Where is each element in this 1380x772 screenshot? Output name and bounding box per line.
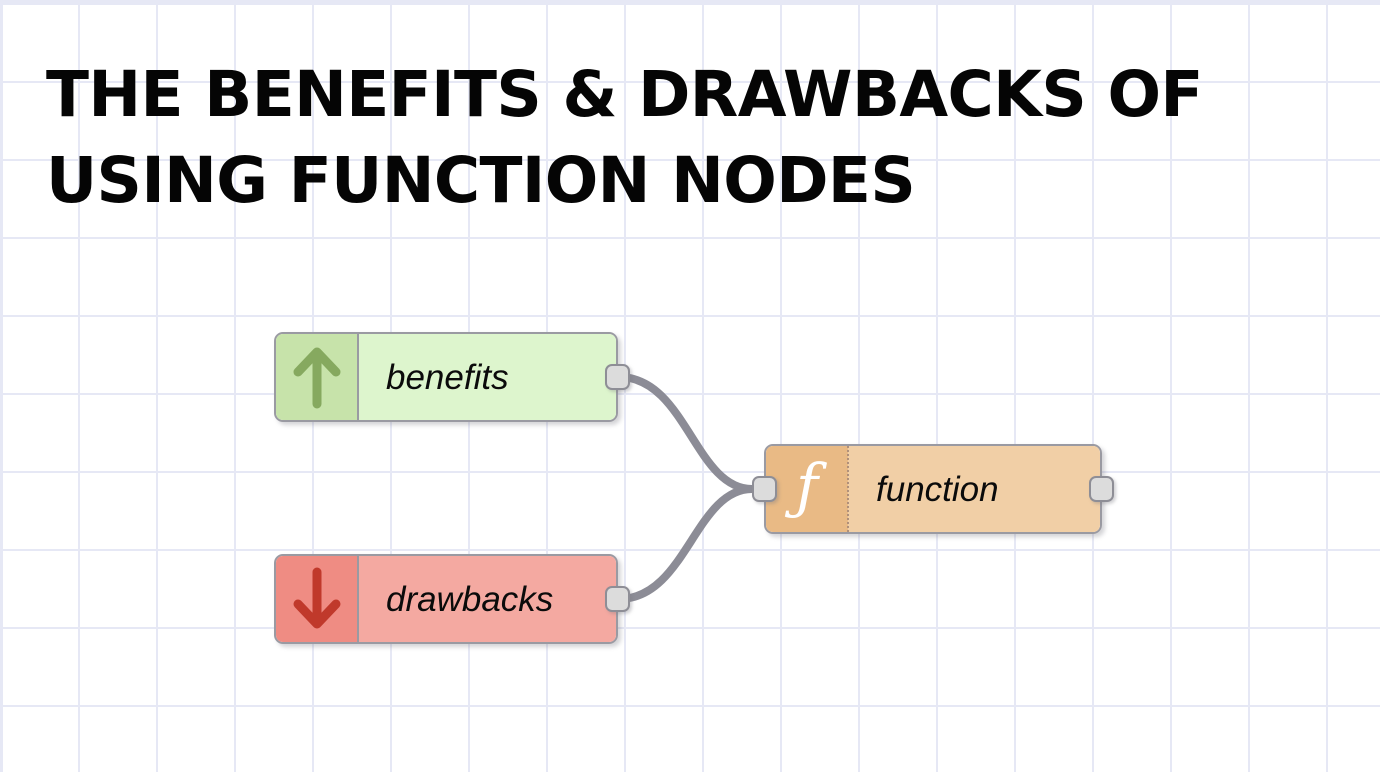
node-benefits-icon-panel — [276, 334, 358, 420]
node-drawbacks-icon-panel — [276, 556, 358, 642]
function-f-icon: ƒ — [796, 457, 818, 517]
node-function-output-port[interactable] — [1089, 476, 1114, 502]
node-drawbacks[interactable]: drawbacks — [274, 554, 618, 644]
node-function-input-port[interactable] — [752, 476, 777, 502]
wire-layer — [0, 0, 1380, 772]
node-function-body: function — [848, 446, 1100, 532]
node-drawbacks-divider — [357, 556, 359, 642]
node-function-label: function — [876, 472, 999, 507]
node-benefits-divider — [357, 334, 359, 420]
node-function-icon-panel: ƒ — [766, 446, 848, 532]
wire-benefits-to-function[interactable] — [619, 377, 752, 489]
node-drawbacks-body: drawbacks — [358, 556, 616, 642]
node-benefits-output-port[interactable] — [605, 364, 630, 390]
node-benefits-body: benefits — [358, 334, 616, 420]
node-drawbacks-label: drawbacks — [386, 582, 553, 617]
flow-canvas[interactable]: The Benefits & Drawbacks of Using Functi… — [0, 0, 1380, 772]
node-function-divider — [847, 446, 849, 532]
node-benefits-label: benefits — [386, 360, 509, 395]
arrow-up-icon — [291, 344, 343, 410]
arrow-down-icon — [291, 566, 343, 632]
node-drawbacks-output-port[interactable] — [605, 586, 630, 612]
wire-drawbacks-to-function[interactable] — [619, 489, 752, 599]
node-function[interactable]: ƒ function — [764, 444, 1102, 534]
node-benefits[interactable]: benefits — [274, 332, 618, 422]
